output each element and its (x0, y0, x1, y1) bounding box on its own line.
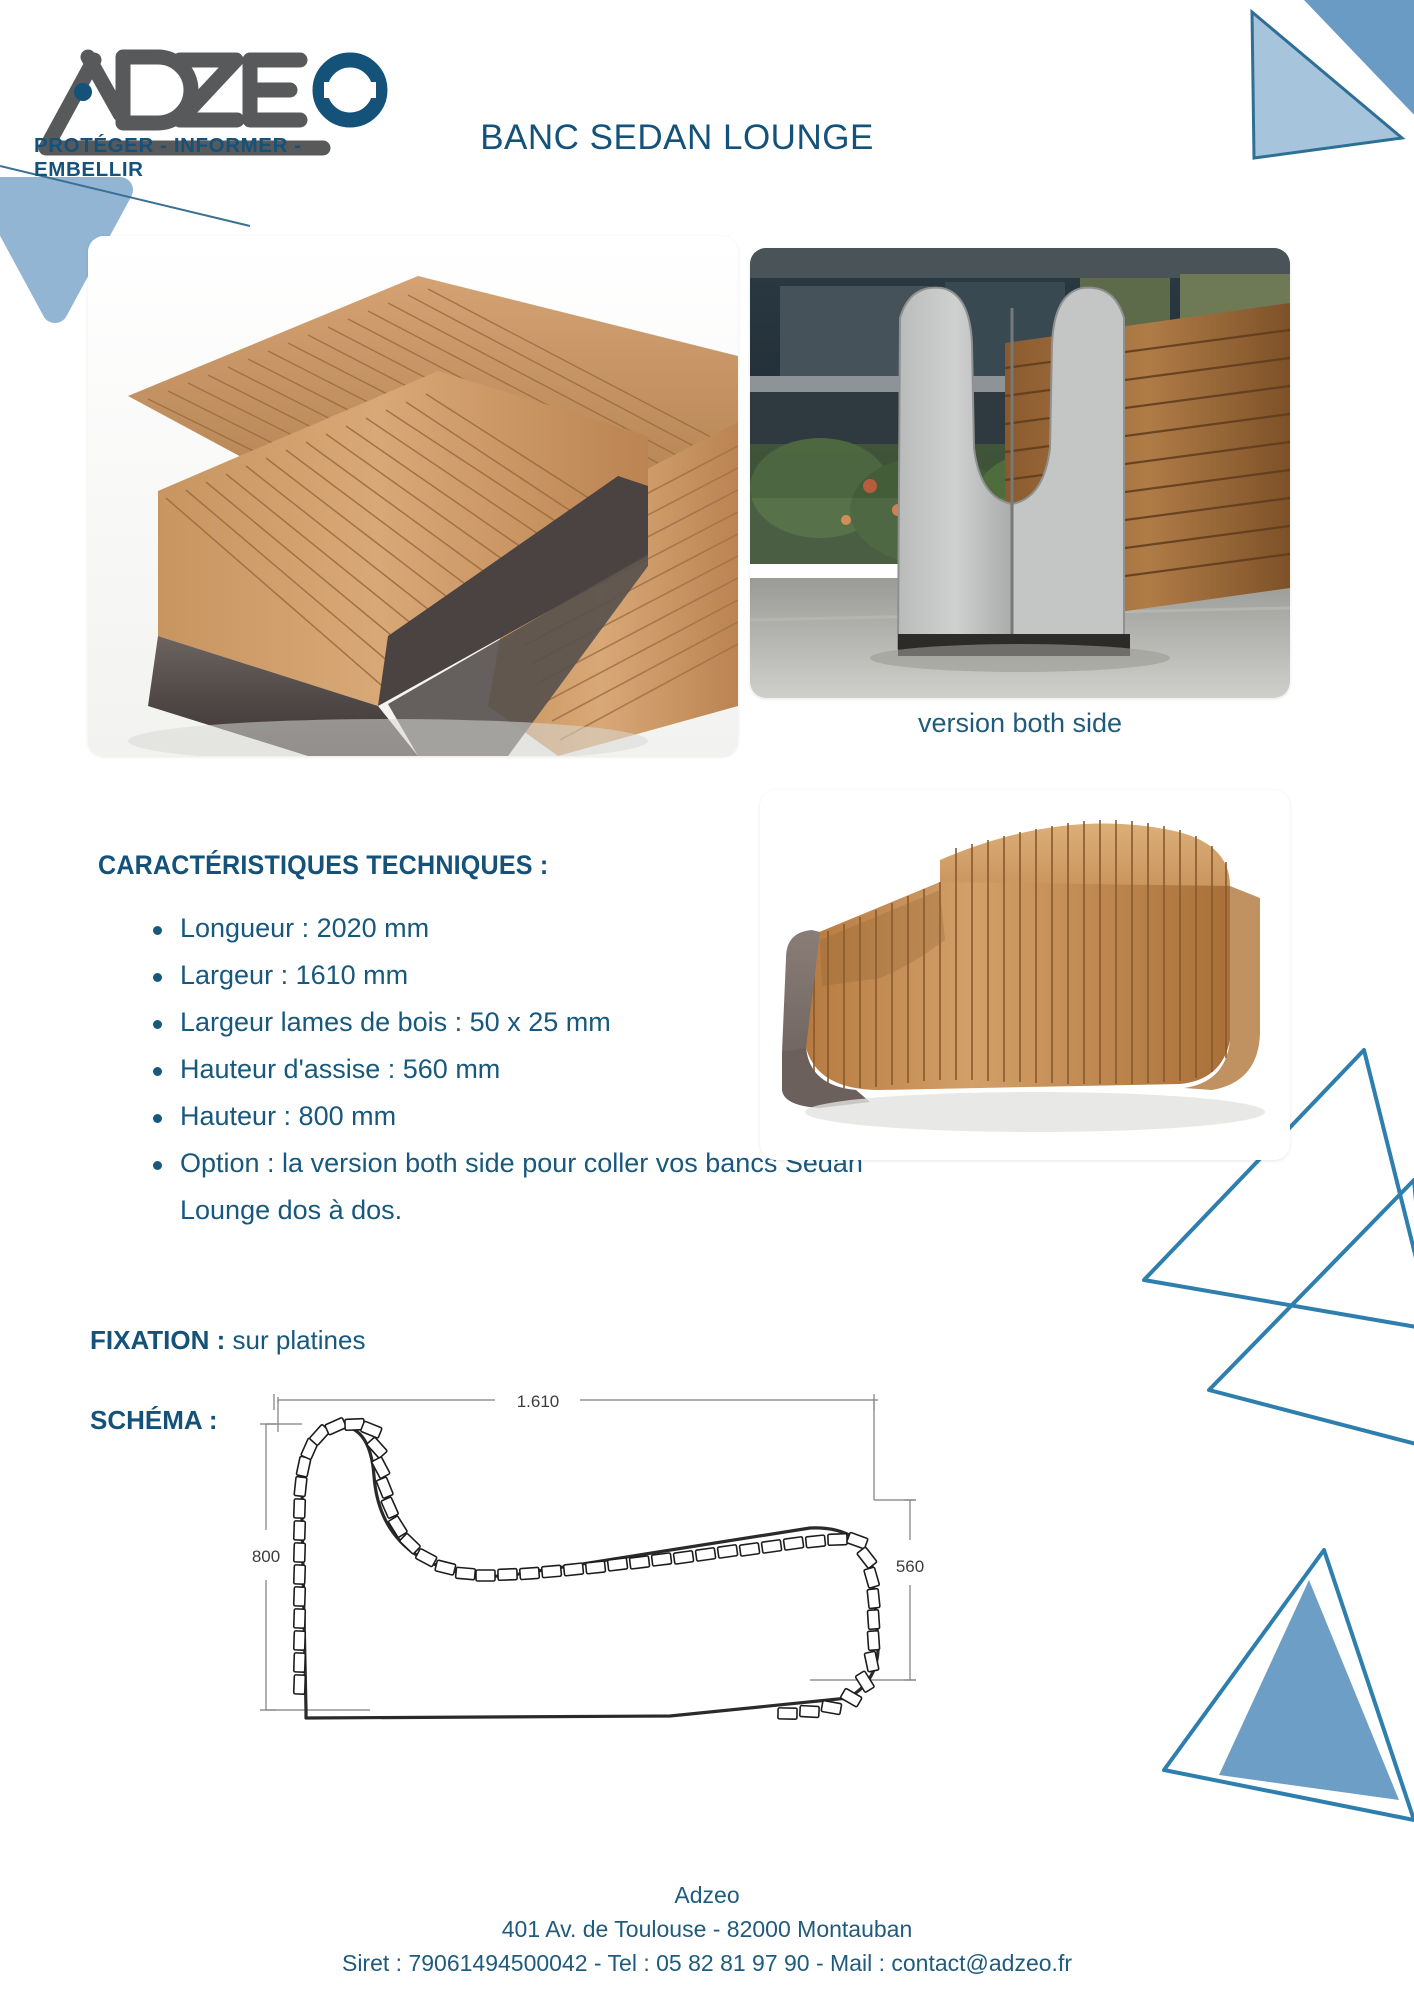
fixation-value: sur platines (233, 1325, 366, 1355)
fixation-row: FIXATION : sur platines (90, 1325, 365, 1356)
product-photo-both-side (750, 248, 1290, 698)
footer-address: 401 Av. de Toulouse - 82000 Montauban (0, 1912, 1414, 1946)
slat-segments (294, 1417, 880, 1719)
page-title: BANC SEDAN LOUNGE (0, 118, 1414, 158)
schema-label: SCHÉMA : (90, 1405, 218, 1436)
footer-legal: Siret : 79061494500042 - Tel : 05 82 81 … (0, 1946, 1414, 1980)
logo-dot-icon (74, 83, 92, 101)
photo-caption: version both side (750, 708, 1290, 739)
deco-triangles-bottom-right (1094, 1520, 1414, 1880)
dim-height-label: 800 (252, 1547, 280, 1566)
datasheet-page: PROTÉGER - INFORMER - EMBELLIR BANC SEDA… (0, 0, 1414, 2000)
footer-company: Adzeo (0, 1878, 1414, 1912)
dimension-lines (260, 1394, 916, 1710)
schema-drawing: 1.610 800 560 (250, 1380, 970, 1800)
page-title-text: BANC SEDAN LOUNGE (480, 118, 874, 158)
dim-seat-height-label: 560 (896, 1557, 924, 1576)
fixation-label: FIXATION : (90, 1325, 225, 1355)
product-photo-main (88, 236, 738, 756)
specs-heading: CARACTÉRISTIQUES TECHNIQUES : (98, 850, 548, 881)
page-footer: Adzeo 401 Av. de Toulouse - 82000 Montau… (0, 1878, 1414, 1980)
dim-width-label: 1.610 (517, 1392, 560, 1411)
product-photo-render (760, 790, 1290, 1160)
